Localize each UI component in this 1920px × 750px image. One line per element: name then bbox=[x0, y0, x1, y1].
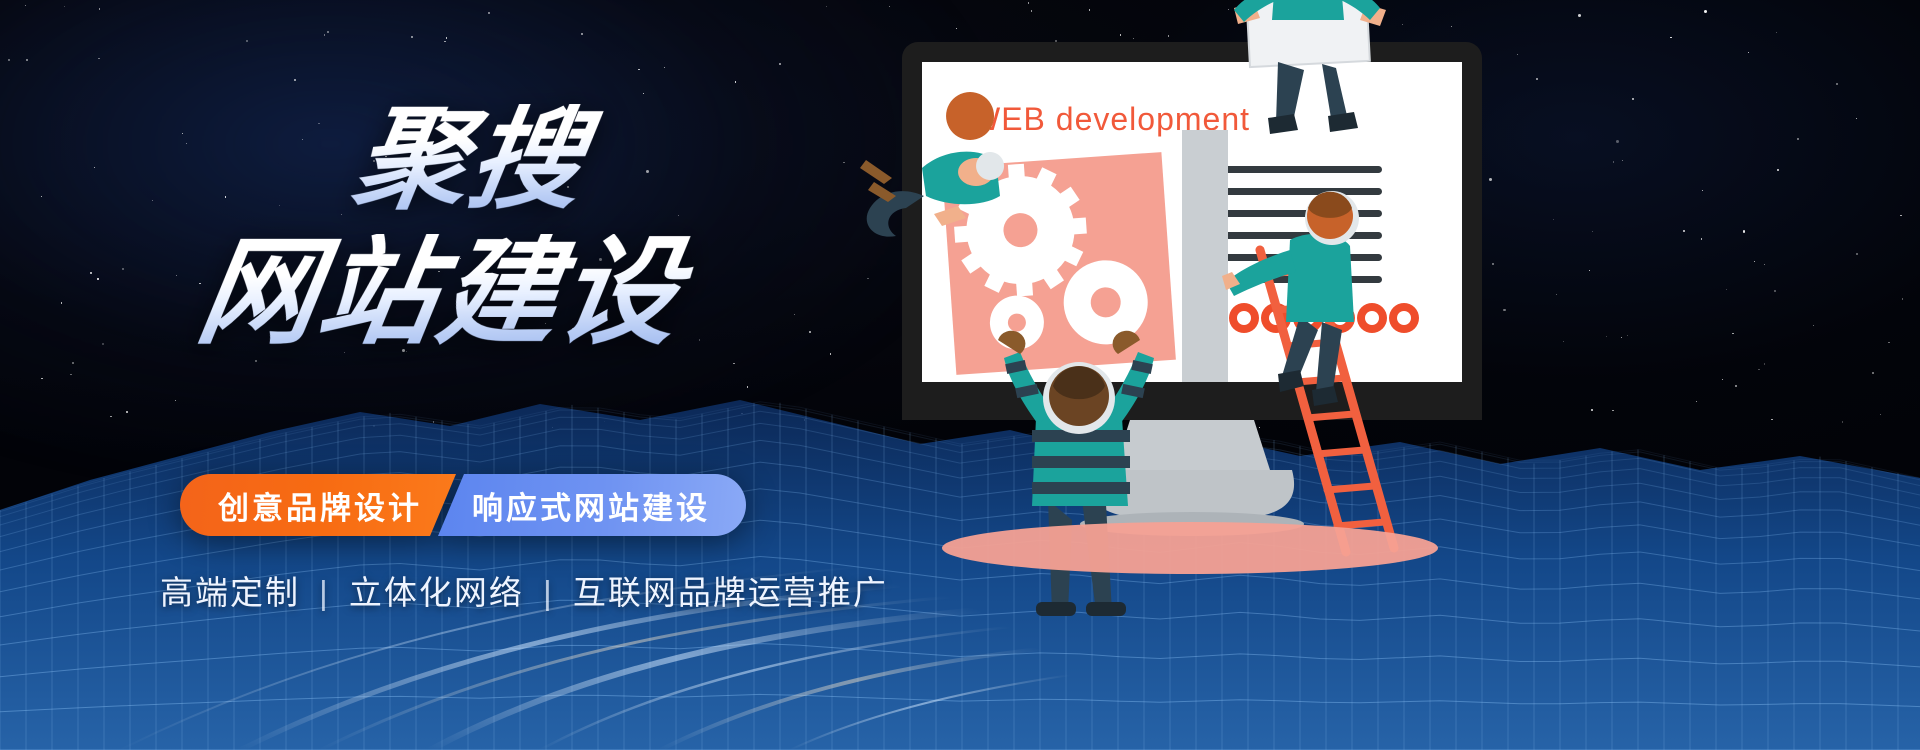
headline-group: 聚搜 网站建设 bbox=[0, 104, 880, 352]
web-development-illustration: WEB development bbox=[830, 0, 1920, 750]
promo-banner: 聚搜 网站建设 创意品牌设计 响应式网站建设 高端定制 | 立体化网络 | 互联… bbox=[0, 0, 1920, 750]
badge-responsive-web-build[interactable]: 响应式网站建设 bbox=[438, 474, 746, 536]
tagline-separator-1: | bbox=[311, 574, 338, 611]
headline-line-1: 聚搜 bbox=[51, 104, 889, 216]
tagline-part-2: 立体化网络 bbox=[349, 574, 524, 611]
ground-ellipse bbox=[942, 522, 1438, 574]
grey-blocks bbox=[1182, 130, 1228, 382]
tagline-separator-2: | bbox=[535, 574, 562, 611]
badge-row: 创意品牌设计 响应式网站建设 bbox=[180, 474, 746, 536]
copy-block: 聚搜 网站建设 创意品牌设计 响应式网站建设 高端定制 | 立体化网络 | 互联… bbox=[0, 0, 880, 750]
headline-line-2: 网站建设 bbox=[0, 234, 889, 352]
badge-creative-brand-design[interactable]: 创意品牌设计 bbox=[180, 474, 456, 536]
tagline-part-1: 高端定制 bbox=[160, 574, 300, 611]
tagline: 高端定制 | 立体化网络 | 互联网品牌运营推广 bbox=[160, 566, 860, 614]
